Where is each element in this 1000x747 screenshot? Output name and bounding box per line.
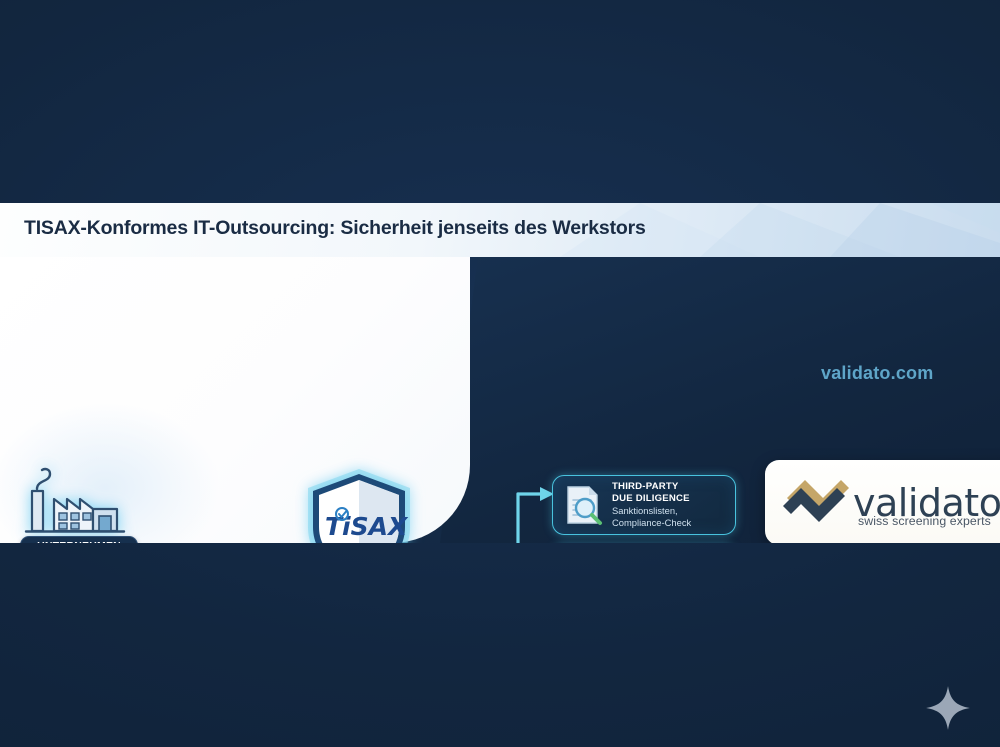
title-bar: TISAX-Konformes IT-Outsourcing: Sicherhe… <box>0 203 1000 257</box>
page-title: TISAX-Konformes IT-Outsourcing: Sicherhe… <box>24 217 646 240</box>
card-third-party-due-diligence[interactable]: THIRD-PARTY DUE DILIGENCE Sanktionsliste… <box>552 475 736 535</box>
page-background: TISAX-Konformes IT-Outsourcing: Sicherhe… <box>0 0 1000 747</box>
brand-tagline: swiss screening experts <box>858 514 991 528</box>
brand-domain[interactable]: validato.com <box>821 363 933 384</box>
card-heading-line-2: DUE DILIGENCE <box>612 493 727 504</box>
card-sub-line-2: Compliance-Check <box>612 517 727 528</box>
factory-icon <box>24 461 126 539</box>
card-text: THIRD-PARTY DUE DILIGENCE Sanktionsliste… <box>612 481 727 528</box>
branch-arrows-icon <box>496 478 558 543</box>
sparkle-icon <box>925 685 971 731</box>
tisax-shield-icon: TiSAX <box>300 465 418 543</box>
svg-text:TiSAX: TiSAX <box>325 512 409 541</box>
card-heading-line-1: THIRD-PARTY <box>612 481 727 492</box>
brand-logo-card: validato swiss screening experts <box>765 460 1000 543</box>
card-sub-line-1: Sanktionslisten, <box>612 505 727 516</box>
label-unternehmen: UNTERNEHMEN (Auftraggeber) <box>20 536 138 543</box>
label-unternehmen-title: UNTERNEHMEN <box>29 541 129 543</box>
document-magnifier-icon <box>561 483 605 527</box>
chevron-stack-logo-icon <box>779 472 853 534</box>
